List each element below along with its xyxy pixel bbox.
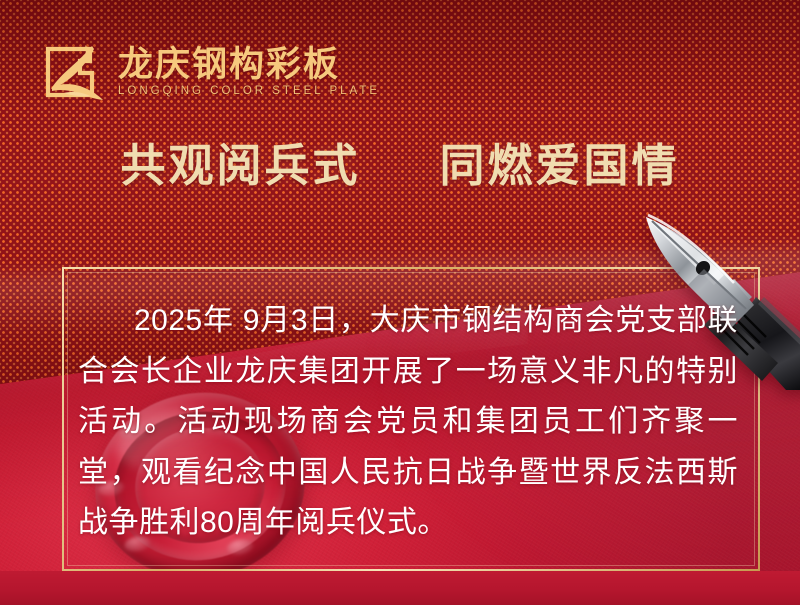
page-title: 共观阅兵式 同燃爱国情 [0, 140, 800, 192]
poster-canvas: 龙庆钢构彩板 LONGQING COLOR STEEL PLATE 共观阅兵式 … [0, 0, 800, 605]
headline-part-1: 共观阅兵式 [120, 140, 360, 191]
logo-company-name-cn: 龙庆钢构彩板 [118, 47, 380, 83]
brand-logo[interactable]: 龙庆钢构彩板 LONGQING COLOR STEEL PLATE [44, 43, 380, 101]
logo-wordmark: 龙庆钢构彩板 LONGQING COLOR STEEL PLATE [118, 47, 380, 98]
bottom-red-band [0, 571, 800, 605]
body-paragraph: 2025年 9月3日，大庆市钢结构商会党支部联合会长企业龙庆集团开展了一场意义非… [78, 296, 738, 549]
longqing-leaf-house-logo-icon [44, 43, 104, 101]
headline-part-2: 同燃爱国情 [440, 140, 680, 191]
logo-company-name-en: LONGQING COLOR STEEL PLATE [118, 86, 380, 98]
